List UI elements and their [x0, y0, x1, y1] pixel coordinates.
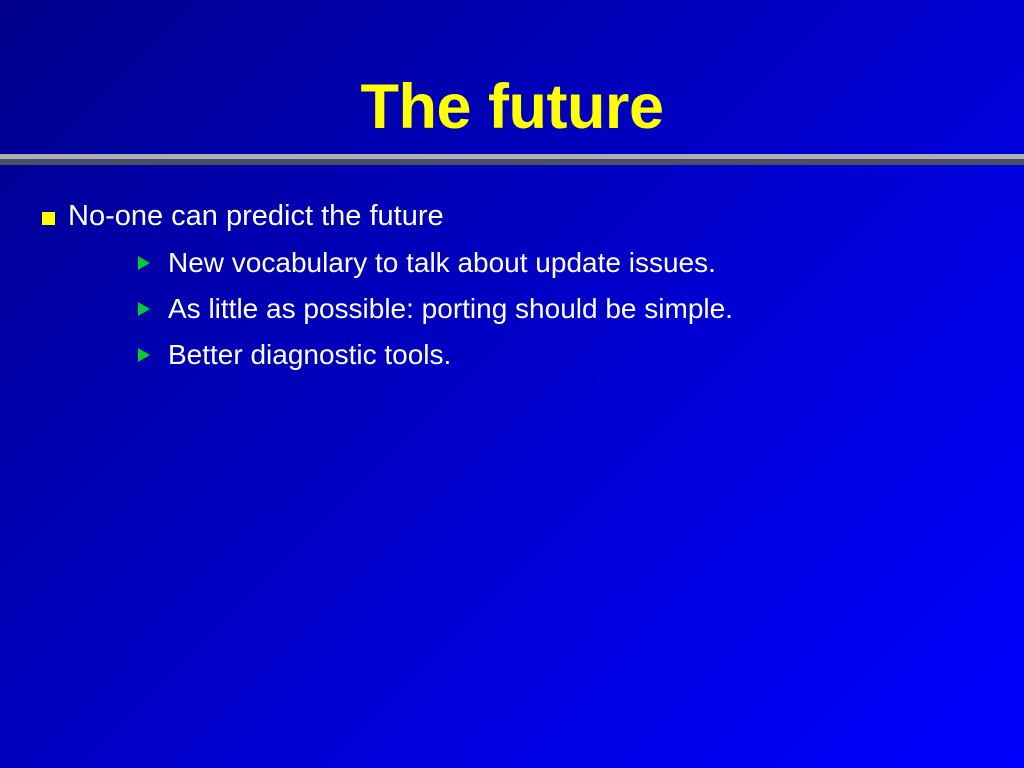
list-item: As little as possible: porting should be…: [68, 286, 1024, 332]
title-divider: [0, 154, 1024, 165]
bullet-list-level2: New vocabulary to talk about update issu…: [68, 240, 1024, 378]
list-item-label: No-one can predict the future: [68, 200, 444, 232]
slide-title-area: The future: [0, 74, 1024, 140]
triangle-bullet-icon: [138, 348, 150, 362]
triangle-bullet-icon: [138, 256, 150, 270]
list-item: No-one can predict the future New vocabu…: [0, 196, 1024, 378]
bullet-list-level1: No-one can predict the future New vocabu…: [0, 196, 1024, 378]
page-title: The future: [361, 74, 664, 140]
list-item-label: New vocabulary to talk about update issu…: [168, 247, 716, 278]
slide-body: No-one can predict the future New vocabu…: [0, 196, 1024, 380]
list-item-label: Better diagnostic tools.: [168, 339, 451, 370]
triangle-bullet-icon: [138, 302, 150, 316]
list-item: Better diagnostic tools.: [68, 332, 1024, 378]
list-item-label: As little as possible: porting should be…: [168, 293, 733, 324]
list-item: New vocabulary to talk about update issu…: [68, 240, 1024, 286]
divider-dark-rule: [0, 159, 1024, 165]
presentation-slide: The future No-one can predict the future…: [0, 0, 1024, 768]
square-bullet-icon: [42, 212, 55, 225]
